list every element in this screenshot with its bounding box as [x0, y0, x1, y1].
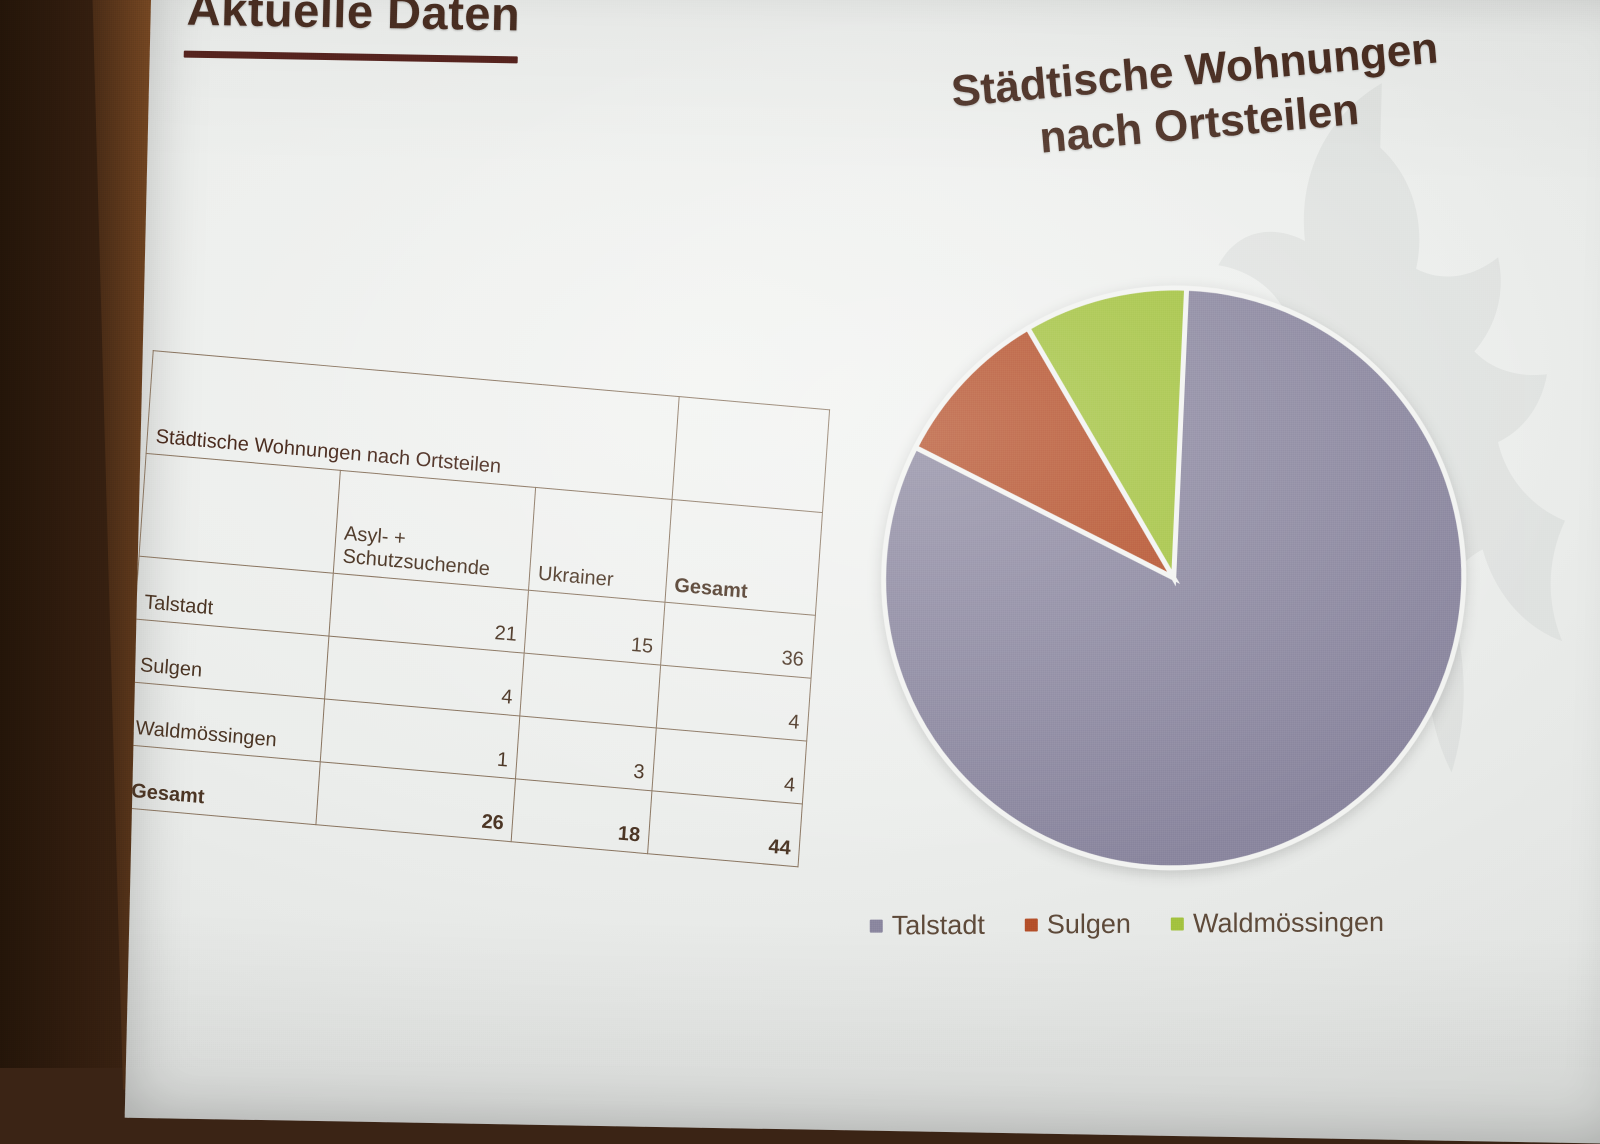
chart-title: Städtische Wohnungen nach Ortsteilen	[874, 15, 1521, 180]
legend-item-talstadt[interactable]: Talstadt	[870, 910, 985, 942]
cell-gesamt-ukrainer: 18	[511, 779, 652, 854]
housing-table: Städtische Wohnungen nach Ortsteilen Asy…	[125, 350, 830, 867]
cell-waldmoessingen-ukrainer: 3	[515, 716, 656, 791]
page-title-underline	[184, 51, 518, 64]
cell-gesamt-gesamt: 44	[647, 791, 802, 867]
cell-sulgen-ukrainer	[520, 653, 661, 728]
legend-swatch-sulgen	[1025, 918, 1038, 931]
pie-chart	[860, 257, 1487, 899]
cell-talstadt-ukrainer: 15	[524, 590, 665, 665]
column-header-asyl: Asyl- + Schutzsuchende	[333, 470, 536, 590]
column-header-gesamt: Gesamt	[665, 499, 823, 615]
legend-label-talstadt: Talstadt	[892, 910, 985, 942]
table-caption-spacer	[672, 397, 830, 513]
chart-legend: Talstadt Sulgen Waldmössingen	[870, 906, 1510, 941]
legend-label-waldmoessingen: Waldmössingen	[1193, 907, 1384, 939]
legend-item-sulgen[interactable]: Sulgen	[1025, 909, 1131, 941]
legend-label-sulgen: Sulgen	[1047, 909, 1131, 941]
legend-swatch-waldmoessingen	[1171, 917, 1184, 930]
column-header-ukrainer: Ukrainer	[528, 487, 671, 602]
column-header-blank	[139, 453, 340, 573]
pie-chart-block: Städtische Wohnungen nach Ortsteilen Tal…	[827, 10, 1600, 1023]
legend-item-waldmoessingen[interactable]: Waldmössingen	[1171, 907, 1384, 939]
pie-slice-group	[871, 277, 1476, 879]
data-table-container: Städtische Wohnungen nach Ortsteilen Asy…	[125, 350, 850, 869]
legend-swatch-talstadt	[870, 920, 883, 933]
projected-slide: Aktuelle Daten Städtische Wohnungen nach…	[125, 0, 1600, 1144]
page-title: Aktuelle Daten	[186, 0, 521, 41]
pie-chart-svg	[860, 257, 1487, 899]
